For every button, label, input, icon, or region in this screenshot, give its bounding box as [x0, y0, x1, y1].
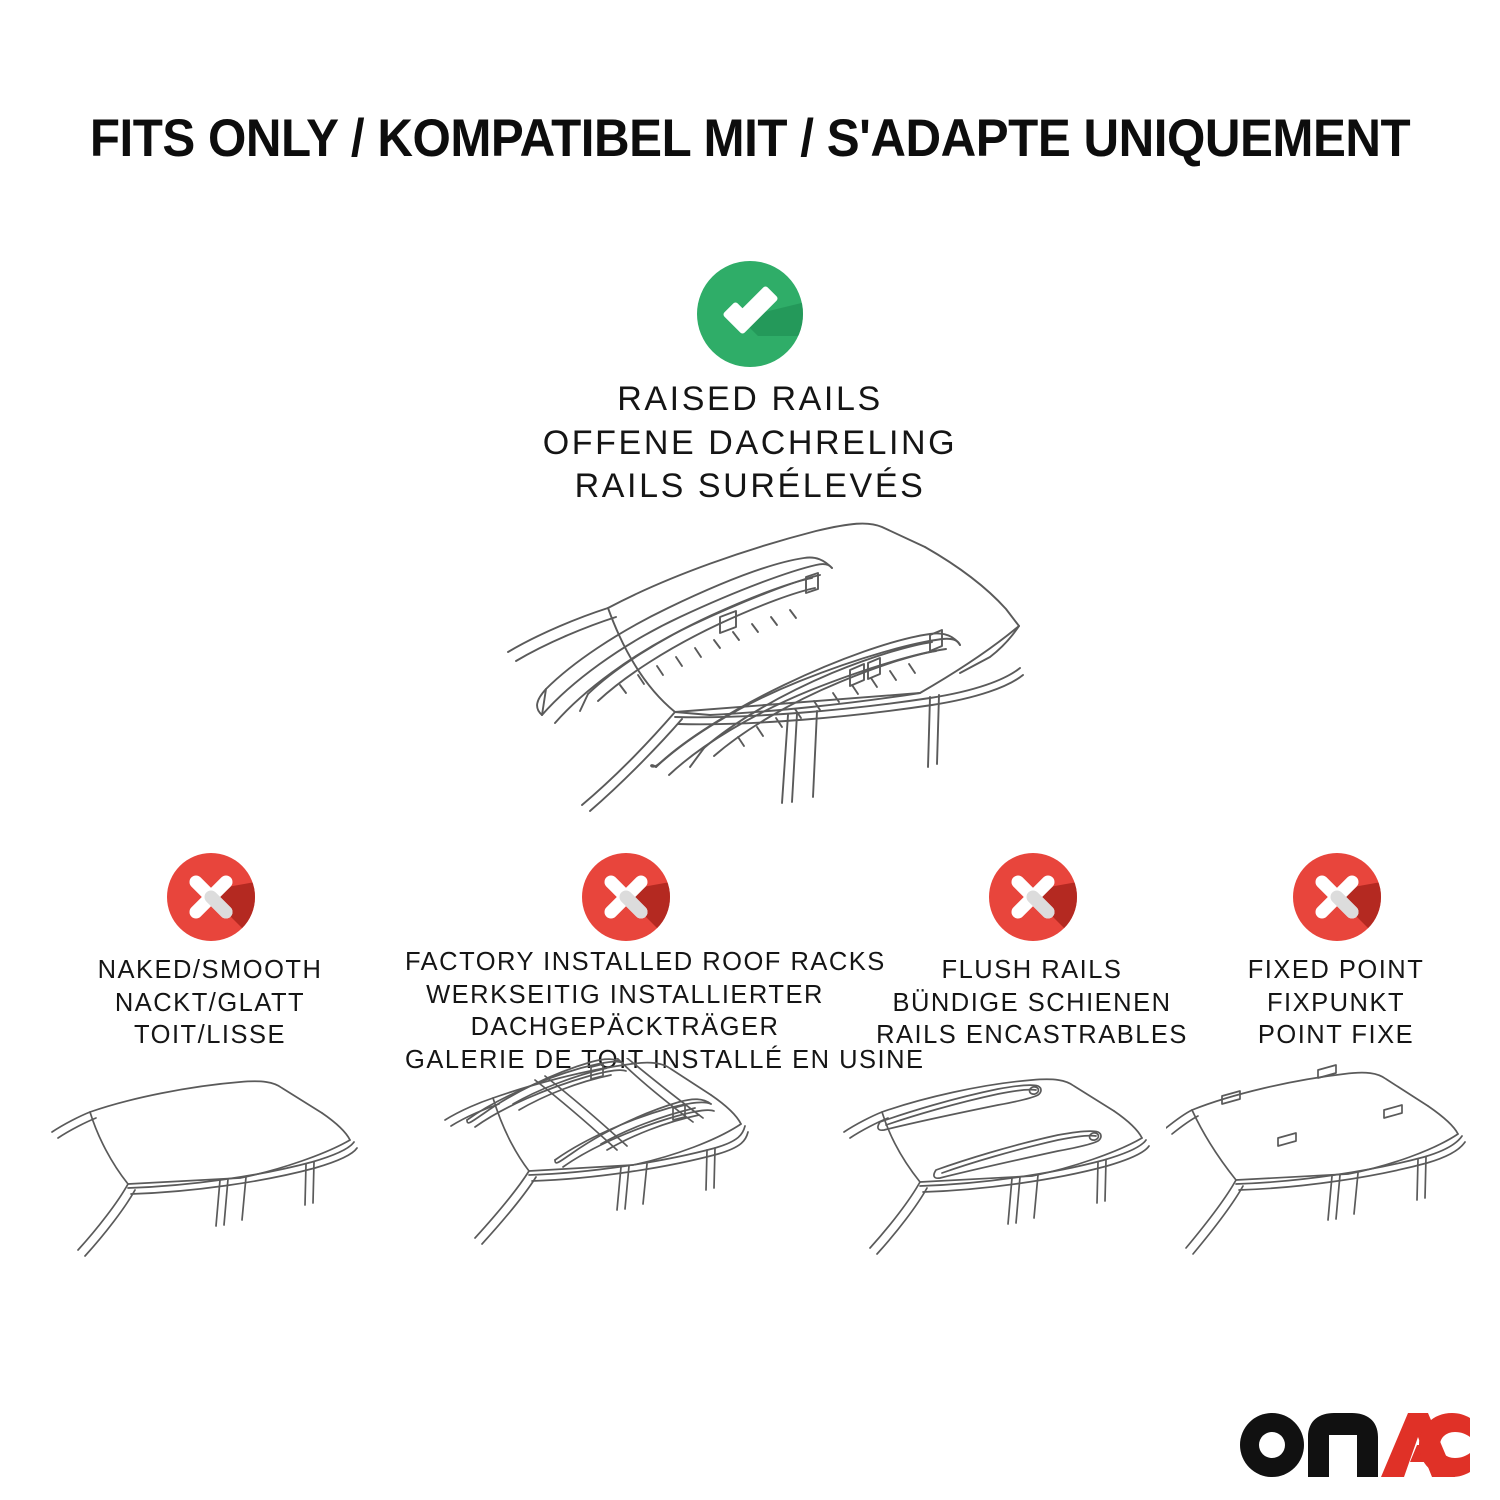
car-roof-flush-rails-diagram: [842, 1060, 1182, 1280]
compatible-line-en: RAISED RAILS: [0, 378, 1500, 422]
car-roof-raised-rails-diagram: [420, 505, 1080, 835]
caption-line-en: FIXED POINT: [1146, 954, 1500, 987]
caption-line-de-2: DACHGEPÄCKTRÄGER: [405, 1011, 845, 1044]
logo-letter-o: [1240, 1413, 1304, 1477]
car-roof-fixed-point-diagram: [1166, 1060, 1486, 1280]
x-circle-icon: [580, 851, 672, 943]
x-circle-icon: [987, 851, 1079, 943]
car-roof-factory-roof-racks-diagram: [425, 1058, 775, 1283]
caption-naked-smooth: NAKED/SMOOTH NACKT/GLATT TOIT/LISSE: [40, 954, 380, 1052]
caption-line-fr: TOIT/LISSE: [40, 1019, 380, 1052]
caption-line-en: NAKED/SMOOTH: [40, 954, 380, 987]
car-roof-naked-smooth-diagram: [50, 1060, 380, 1280]
caption-line-de-1: WERKSEITIG INSTALLIERTER: [405, 979, 845, 1012]
caption-fixed-point: FIXED POINT FIXPUNKT POINT FIXE: [1146, 954, 1500, 1052]
x-circle-icon: [165, 851, 257, 943]
compatible-line-fr: RAILS SURÉLEVÉS: [0, 465, 1500, 509]
caption-factory-racks: FACTORY INSTALLED ROOF RACKS WERKSEITIG …: [405, 946, 845, 1077]
caption-line-de: NACKT/GLATT: [40, 987, 380, 1020]
caption-line-de: FIXPUNKT: [1146, 987, 1500, 1020]
page-title: FITS ONLY / KOMPATIBEL MIT / S'ADAPTE UN…: [53, 108, 1448, 169]
x-circle-icon: [1291, 851, 1383, 943]
caption-line-fr: POINT FIXE: [1146, 1019, 1500, 1052]
logo-letter-m: [1308, 1413, 1378, 1477]
caption-line-en: FACTORY INSTALLED ROOF RACKS: [405, 946, 845, 979]
compatible-line-de: OFFENE DACHRELING: [0, 422, 1500, 466]
check-circle-icon: [694, 258, 806, 370]
compatible-caption: RAISED RAILS OFFENE DACHRELING RAILS SUR…: [0, 378, 1500, 509]
omac-logo: [1238, 1404, 1470, 1478]
fitment-infographic: FITS ONLY / KOMPATIBEL MIT / S'ADAPTE UN…: [0, 0, 1500, 1500]
